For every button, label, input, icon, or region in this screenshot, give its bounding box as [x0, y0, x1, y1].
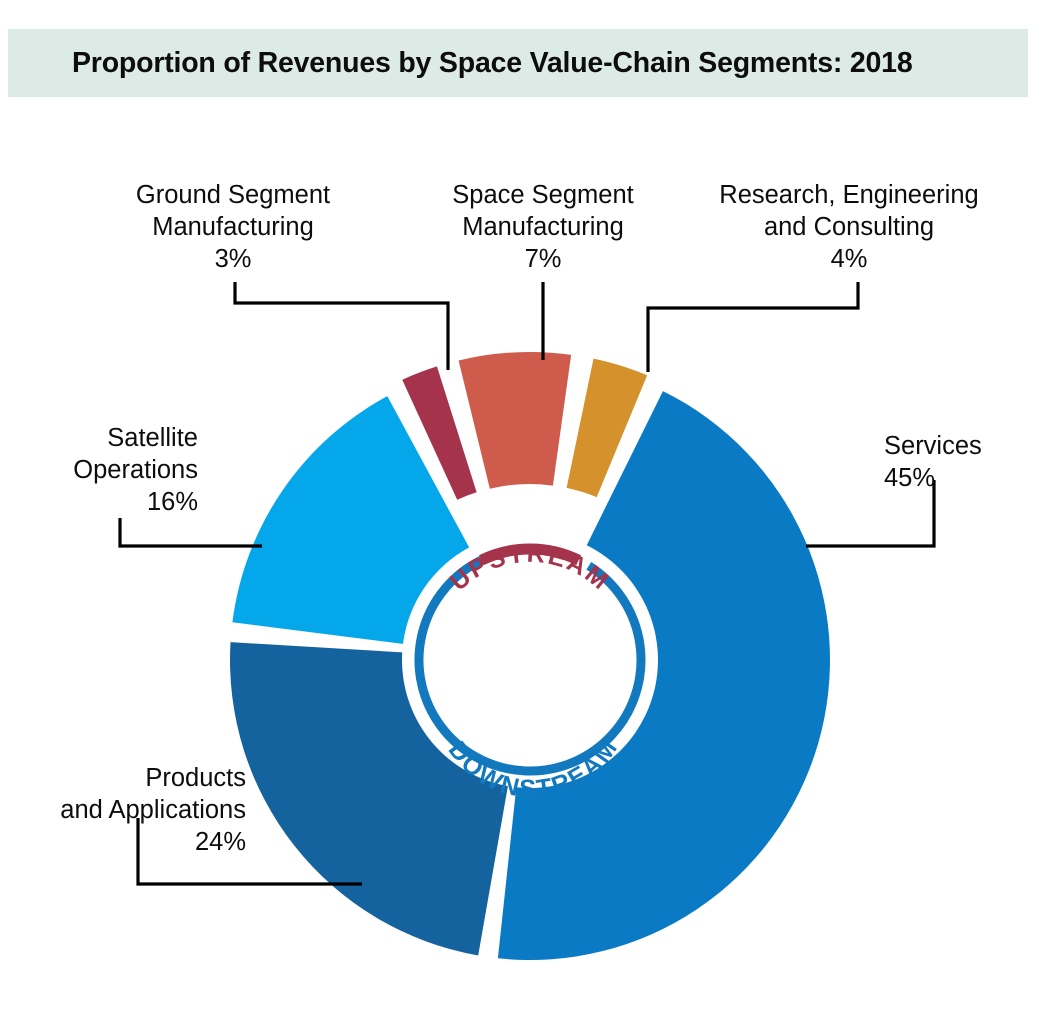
callout-label-line: Services — [884, 432, 982, 460]
callout-label-line: and Applications — [60, 796, 246, 824]
callout-label-line: Space Segment — [452, 181, 633, 209]
callout-label-line: Manufacturing — [152, 213, 314, 241]
callout-label-line: 24% — [195, 828, 246, 856]
callout-label-line: Research, Engineering — [719, 181, 978, 209]
callout-label-line: 16% — [147, 488, 198, 516]
pie-slice[interactable] — [459, 352, 572, 489]
callout-label-line: 45% — [884, 464, 935, 492]
callout-label-line: and Consulting — [764, 213, 934, 241]
callout-label-line: 4% — [831, 245, 868, 273]
slice-callout-label: Productsand Applications24% — [60, 764, 246, 856]
slice-callout-label: Services45% — [884, 432, 982, 492]
ring-labels: UPSTREAM DOWNSTREAM — [443, 540, 624, 804]
figure-root: Proportion of Revenues by Space Value-Ch… — [0, 0, 1044, 1030]
callout-label-line: Ground Segment — [136, 181, 330, 209]
callout-label-line: 3% — [215, 245, 252, 273]
leader-line — [648, 282, 858, 372]
leader-line — [235, 282, 448, 370]
callout-label-line: Manufacturing — [462, 213, 624, 241]
pie-slice[interactable] — [230, 642, 508, 955]
slice-labels: Services45%Productsand Applications24%Sa… — [60, 181, 982, 856]
leader-line — [120, 518, 262, 546]
slice-callout-label: Space SegmentManufacturing7% — [452, 181, 633, 273]
slice-callout-label: SatelliteOperations16% — [73, 424, 198, 516]
slice-callout-label: Research, Engineeringand Consulting4% — [719, 181, 978, 273]
slice-callout-label: Ground SegmentManufacturing3% — [136, 181, 330, 273]
donut-chart: UPSTREAM DOWNSTREAM Services45%Productsa… — [0, 0, 1044, 1030]
callout-label-line: Satellite — [107, 424, 198, 452]
callout-label-line: Operations — [73, 456, 198, 484]
callout-label-line: 7% — [525, 245, 562, 273]
callout-label-line: Products — [145, 764, 246, 792]
donut-chart-svg: UPSTREAM DOWNSTREAM Services45%Productsa… — [0, 0, 1044, 1030]
pie-slices — [230, 352, 830, 960]
